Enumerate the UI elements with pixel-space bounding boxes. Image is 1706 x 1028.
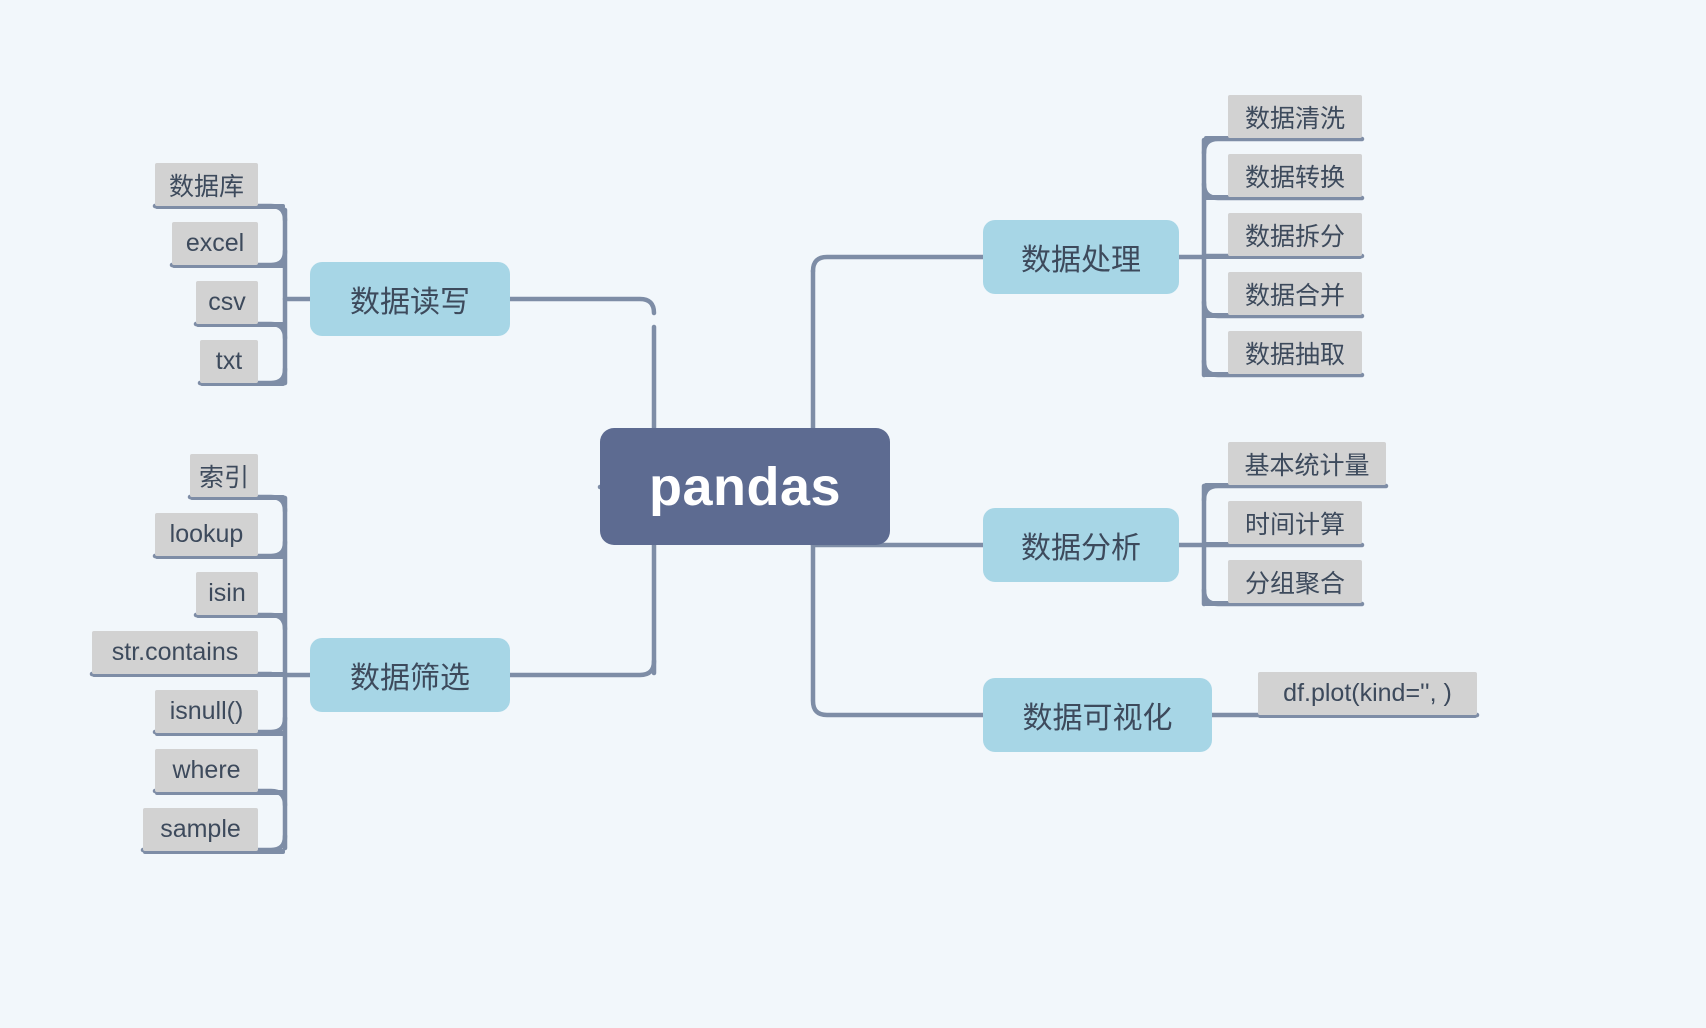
branch-label: 数据可视化 xyxy=(1023,693,1173,737)
branch-node-data-filter[interactable]: 数据筛选 xyxy=(310,638,510,712)
leaf-label: 数据抽取 xyxy=(1245,335,1345,371)
branch-node-data-processing[interactable]: 数据处理 xyxy=(983,220,1179,294)
wire-proc-to-trunk xyxy=(813,257,983,271)
subwire-ana-0 xyxy=(1204,486,1386,500)
root-node[interactable]: pandas xyxy=(600,428,890,545)
leaf-node-data-processing-0[interactable]: 数据清洗 xyxy=(1228,95,1362,138)
leaf-label: 分组聚合 xyxy=(1245,564,1345,600)
leaf-node-data-processing-3[interactable]: 数据合并 xyxy=(1228,272,1362,315)
leaf-node-data-processing-1[interactable]: 数据转换 xyxy=(1228,154,1362,197)
leaf-node-data-io-0[interactable]: 数据库 xyxy=(155,163,258,206)
leaf-label: 时间计算 xyxy=(1245,505,1345,541)
branch-label: 数据筛选 xyxy=(350,653,470,697)
leaf-label: 数据库 xyxy=(169,167,244,203)
leaf-node-data-analysis-1[interactable]: 时间计算 xyxy=(1228,501,1362,544)
leaf-label: df.plot(kind='', ) xyxy=(1283,679,1452,708)
leaf-label: excel xyxy=(186,229,244,258)
leaf-label: 数据拆分 xyxy=(1245,217,1345,253)
leaf-node-data-filter-4[interactable]: isnull() xyxy=(155,690,258,733)
leaf-node-data-processing-2[interactable]: 数据拆分 xyxy=(1228,213,1362,256)
leaf-label: txt xyxy=(216,347,242,376)
leaf-label: str.contains xyxy=(112,638,238,667)
leaf-node-data-visualization-0[interactable]: df.plot(kind='', ) xyxy=(1258,672,1477,715)
leaf-node-data-io-2[interactable]: csv xyxy=(196,281,258,324)
leaf-label: lookup xyxy=(170,520,244,549)
wire-viz-to-trunk xyxy=(813,701,983,715)
subwire-proc-2 xyxy=(1204,257,1362,271)
root-label: pandas xyxy=(649,456,841,518)
leaf-label: where xyxy=(172,756,240,785)
wire-filter-to-trunk xyxy=(510,661,654,675)
subwire-proc-0 xyxy=(1204,139,1362,153)
leaf-node-data-filter-0[interactable]: 索引 xyxy=(190,454,258,497)
leaf-node-data-filter-6[interactable]: sample xyxy=(143,808,258,851)
leaf-node-data-filter-5[interactable]: where xyxy=(155,749,258,792)
leaf-node-data-processing-4[interactable]: 数据抽取 xyxy=(1228,331,1362,374)
leaf-node-data-analysis-0[interactable]: 基本统计量 xyxy=(1228,442,1386,485)
leaf-node-data-filter-2[interactable]: isin xyxy=(196,572,258,615)
leaf-label: isin xyxy=(208,579,246,608)
leaf-label: csv xyxy=(208,288,246,317)
wire-io-to-trunk xyxy=(510,299,654,313)
mindmap-canvas: pandas 数据读写 数据库 excel csv txt 数据筛选 索引 lo… xyxy=(0,0,1706,1028)
leaf-node-data-io-1[interactable]: excel xyxy=(172,222,258,265)
leaf-node-data-analysis-2[interactable]: 分组聚合 xyxy=(1228,560,1362,603)
leaf-label: sample xyxy=(160,815,241,844)
branch-node-data-analysis[interactable]: 数据分析 xyxy=(983,508,1179,582)
leaf-label: 基本统计量 xyxy=(1244,446,1369,482)
leaf-node-data-filter-1[interactable]: lookup xyxy=(155,513,258,556)
leaf-node-data-filter-3[interactable]: str.contains xyxy=(92,631,258,674)
leaf-label: 数据清洗 xyxy=(1245,99,1345,135)
branch-label: 数据处理 xyxy=(1021,235,1141,279)
branch-label: 数据读写 xyxy=(350,277,470,321)
branch-label: 数据分析 xyxy=(1021,523,1141,567)
leaf-label: 索引 xyxy=(199,458,249,494)
leaf-label: 数据转换 xyxy=(1245,158,1345,194)
leaf-label: 数据合并 xyxy=(1245,276,1345,312)
leaf-node-data-io-3[interactable]: txt xyxy=(200,340,258,383)
branch-node-data-io[interactable]: 数据读写 xyxy=(310,262,510,336)
branch-node-data-visualization[interactable]: 数据可视化 xyxy=(983,678,1212,752)
leaf-label: isnull() xyxy=(170,697,244,726)
